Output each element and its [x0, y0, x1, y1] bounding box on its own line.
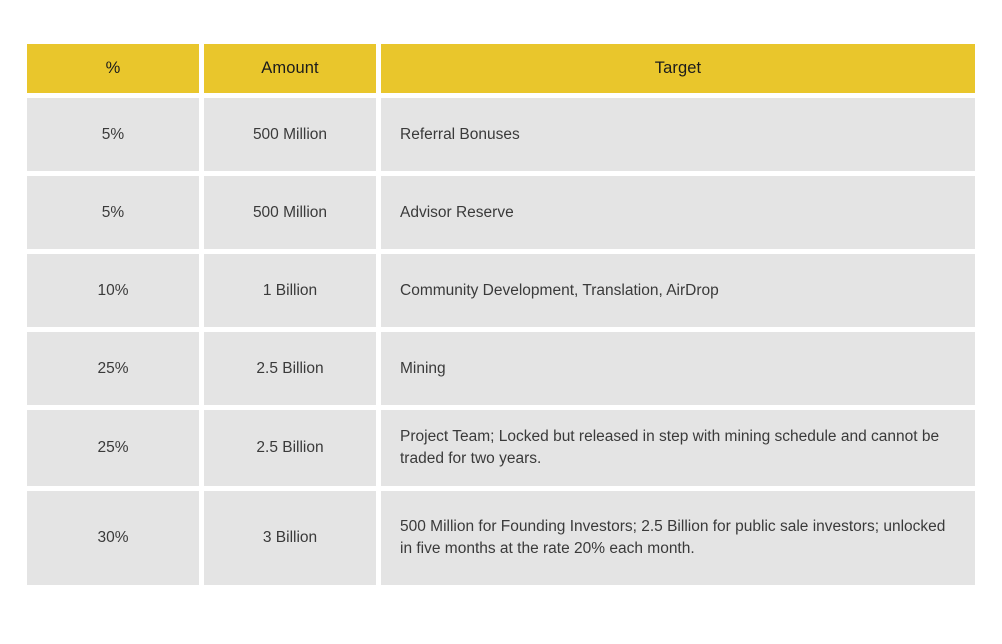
- table-row: 5% 500 Million Advisor Reserve: [27, 176, 975, 249]
- cell-amount: 2.5 Billion: [204, 332, 376, 405]
- column-header-target: Target: [381, 44, 975, 93]
- cell-amount: 500 Million: [204, 98, 376, 171]
- cell-target: Community Development, Translation, AirD…: [381, 254, 975, 327]
- cell-target: Referral Bonuses: [381, 98, 975, 171]
- table-body: 5% 500 Million Referral Bonuses 5% 500 M…: [27, 98, 975, 585]
- cell-percent: 5%: [27, 98, 199, 171]
- table-row: 10% 1 Billion Community Development, Tra…: [27, 254, 975, 327]
- column-header-percent: %: [27, 44, 199, 93]
- cell-target: Project Team; Locked but released in ste…: [381, 410, 975, 486]
- cell-amount: 1 Billion: [204, 254, 376, 327]
- cell-amount: 3 Billion: [204, 491, 376, 585]
- table-row: 30% 3 Billion 500 Million for Founding I…: [27, 491, 975, 585]
- header-row: % Amount Target: [27, 44, 975, 93]
- cell-percent: 5%: [27, 176, 199, 249]
- table-header: % Amount Target: [27, 44, 975, 93]
- cell-target: Mining: [381, 332, 975, 405]
- table-row: 25% 2.5 Billion Project Team; Locked but…: [27, 410, 975, 486]
- cell-percent: 25%: [27, 332, 199, 405]
- cell-percent: 25%: [27, 410, 199, 486]
- cell-amount: 500 Million: [204, 176, 376, 249]
- table-row: 25% 2.5 Billion Mining: [27, 332, 975, 405]
- token-distribution-table: % Amount Target 5% 500 Million Referral …: [22, 39, 980, 590]
- cell-percent: 10%: [27, 254, 199, 327]
- cell-amount: 2.5 Billion: [204, 410, 376, 486]
- column-header-amount: Amount: [204, 44, 376, 93]
- cell-target: 500 Million for Founding Investors; 2.5 …: [381, 491, 975, 585]
- cell-percent: 30%: [27, 491, 199, 585]
- cell-target: Advisor Reserve: [381, 176, 975, 249]
- table-row: 5% 500 Million Referral Bonuses: [27, 98, 975, 171]
